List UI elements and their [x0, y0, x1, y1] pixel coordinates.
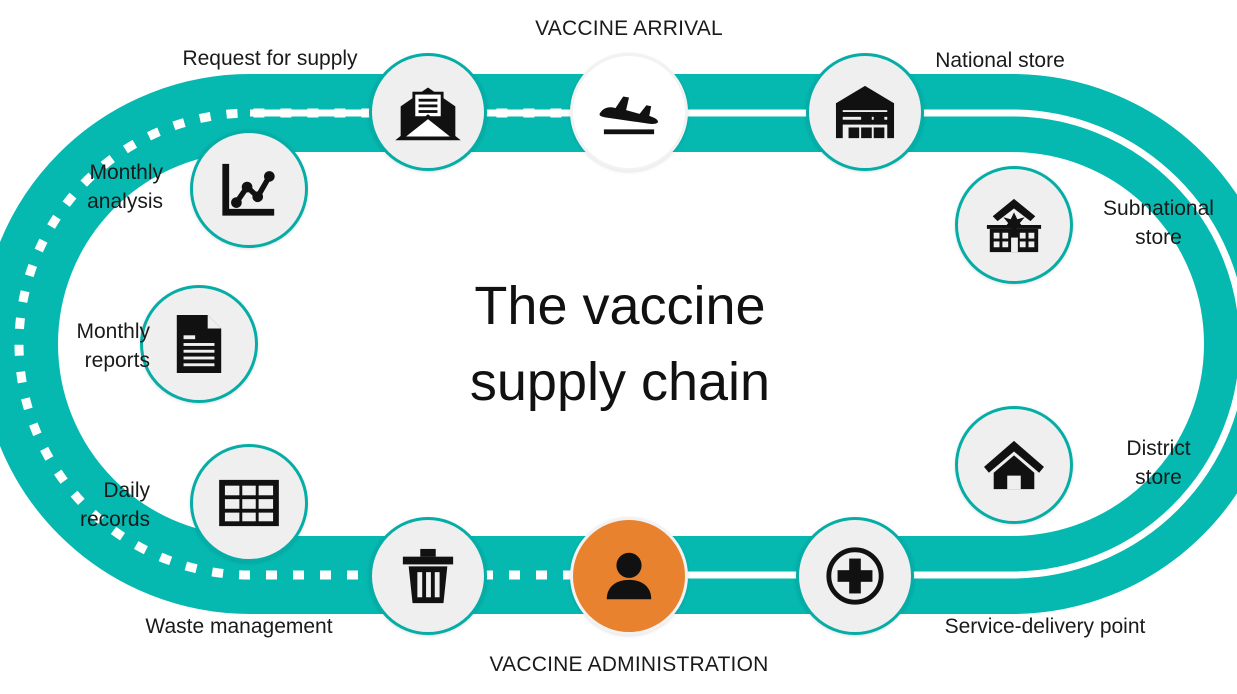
person-icon: [600, 547, 658, 605]
label-subnational-store: Subnational store: [1080, 194, 1237, 252]
airplane-landing-icon: [594, 84, 664, 140]
vaccine-supply-chain-diagram: The vaccine supply chain: [0, 0, 1237, 694]
node-subnational-store[interactable]: [955, 166, 1073, 284]
label-monthly-analysis: Monthly analysis: [0, 158, 163, 216]
house-icon: [982, 436, 1046, 494]
label-service-delivery-point: Service-delivery point: [880, 612, 1210, 641]
node-monthly-analysis[interactable]: [190, 130, 308, 248]
node-monthly-reports[interactable]: [140, 285, 258, 403]
node-waste-management[interactable]: [369, 517, 487, 635]
label-request-for-supply: Request for supply: [120, 44, 420, 73]
medical-cross-circle-icon: [824, 545, 886, 607]
node-daily-records[interactable]: [190, 444, 308, 562]
page-title: The vaccine supply chain: [420, 268, 820, 420]
label-waste-management: Waste management: [110, 612, 368, 641]
table-grid-icon: [216, 477, 282, 529]
label-monthly-reports: Monthly reports: [0, 317, 150, 375]
label-district-store: District store: [1080, 434, 1237, 492]
node-vaccine-arrival[interactable]: [570, 53, 688, 171]
node-vaccine-administration[interactable]: [570, 517, 688, 635]
label-daily-records: Daily records: [0, 476, 150, 534]
node-district-store[interactable]: [955, 406, 1073, 524]
hospital-building-icon: [981, 195, 1047, 255]
warehouse-icon: [832, 82, 898, 142]
envelope-icon: [395, 81, 461, 143]
label-vaccine-administration: VACCINE ADMINISTRATION: [468, 650, 790, 679]
line-chart-icon: [218, 158, 280, 220]
label-vaccine-arrival: VACCINE ARRIVAL: [469, 14, 789, 43]
trash-bin-icon: [399, 545, 457, 607]
label-national-store: National store: [855, 46, 1145, 75]
document-icon: [171, 312, 227, 376]
